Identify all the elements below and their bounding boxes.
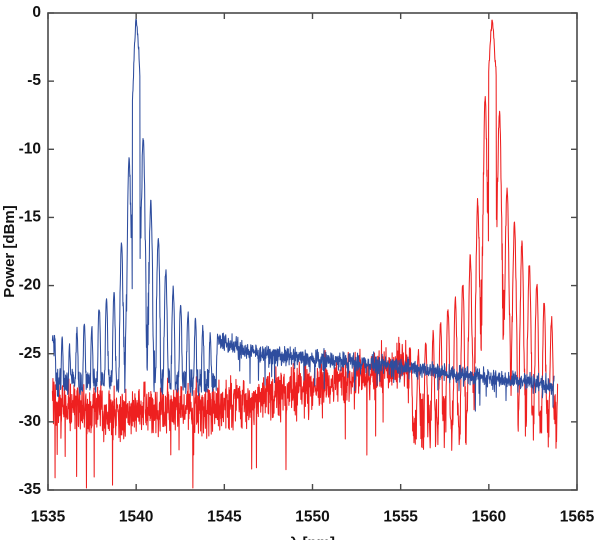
figure-canvas: 15351540154515501555156015650-5-10-15-20… <box>0 0 600 540</box>
y-tick-label: -15 <box>19 209 42 226</box>
x-tick-label: 1545 <box>207 508 242 525</box>
y-axis-title: Power [dBm] <box>1 205 18 298</box>
y-tick-label: -20 <box>19 277 41 294</box>
y-tick-label: -10 <box>19 140 41 157</box>
x-tick-label: 1540 <box>119 508 153 525</box>
x-axis-title: λ [nm] <box>290 534 335 540</box>
y-tick-label: -25 <box>19 345 42 362</box>
x-tick-label: 1565 <box>560 508 595 525</box>
plot-background <box>0 0 600 540</box>
y-tick-label: -35 <box>19 481 42 498</box>
y-tick-label: -30 <box>19 413 41 430</box>
y-tick-label: 0 <box>32 4 41 21</box>
x-tick-label: 1550 <box>295 508 329 525</box>
x-tick-label: 1560 <box>472 508 506 525</box>
x-tick-label: 1535 <box>31 508 66 525</box>
x-tick-label: 1555 <box>383 508 418 525</box>
spectrum-plot: 15351540154515501555156015650-5-10-15-20… <box>0 0 600 540</box>
y-tick-label: -5 <box>27 72 41 89</box>
